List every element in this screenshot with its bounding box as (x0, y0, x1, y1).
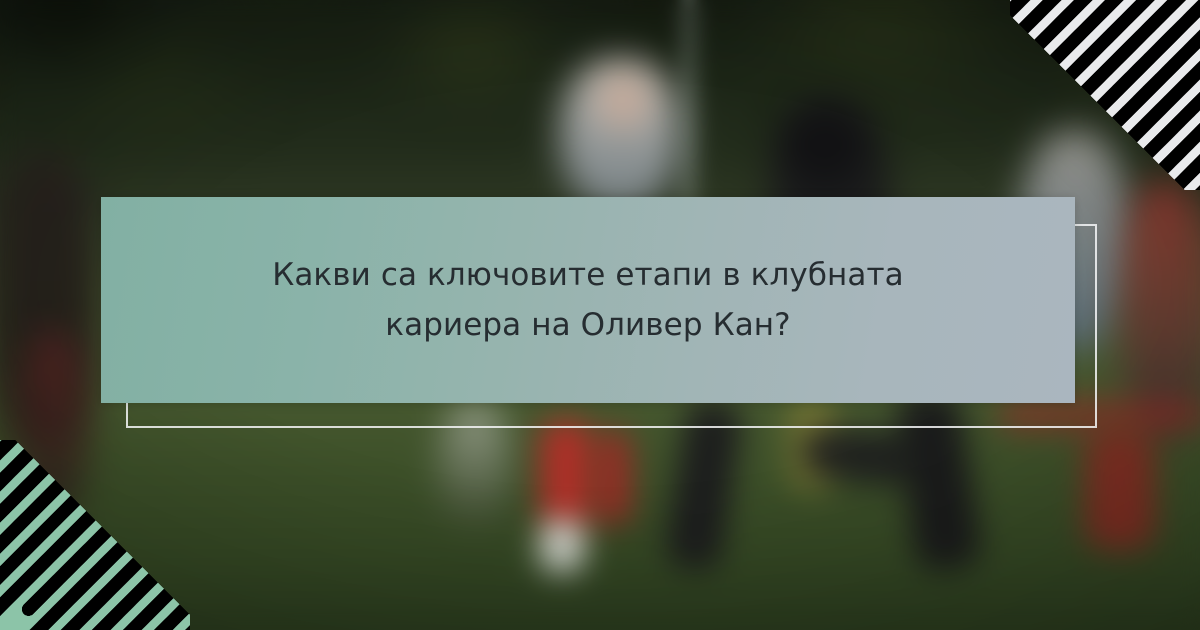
question-panel: Какви са ключовите етапи в клубната кари… (101, 197, 1075, 403)
question-card: Какви са ключовите етапи в клубната кари… (0, 0, 1200, 630)
question-text: Какви са ключовите етапи в клубната кари… (178, 250, 998, 350)
